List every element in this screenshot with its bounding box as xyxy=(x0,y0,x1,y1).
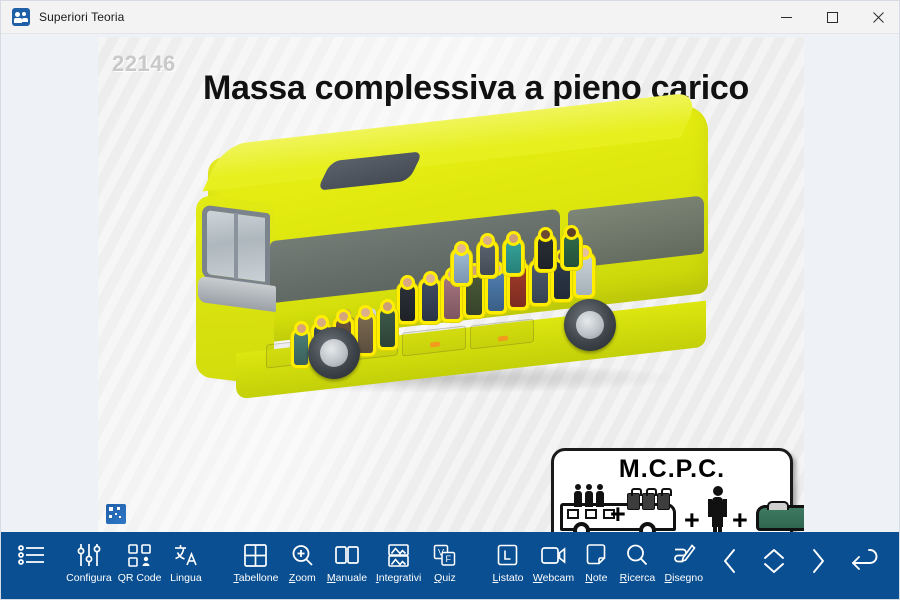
video-camera-icon xyxy=(540,538,567,572)
listato-button[interactable]: Listato xyxy=(487,538,530,596)
slide-canvas[interactable]: 22146 Massa complessiva a pieno carico xyxy=(98,37,804,532)
qr-code-button[interactable]: QR Code xyxy=(115,538,165,596)
manuale-button[interactable]: Manuale xyxy=(323,538,371,596)
note-label: Note xyxy=(585,573,607,584)
integrativi-label: Integrativi xyxy=(376,573,422,584)
window-title: Superiori Teoria xyxy=(39,10,124,24)
chevron-up-down-icon xyxy=(760,546,788,581)
next-button[interactable] xyxy=(796,538,840,596)
lingua-label: Lingua xyxy=(170,573,202,584)
zoom-button[interactable]: Zoom xyxy=(282,538,323,596)
disegno-button[interactable]: Disegno xyxy=(660,538,708,596)
disegno-label: Disegno xyxy=(665,573,704,584)
sliders-icon xyxy=(76,538,102,572)
open-book-icon xyxy=(334,538,360,572)
qr-code-icon xyxy=(127,538,152,572)
application-window: Superiori Teoria 22146 Massa complessiva… xyxy=(0,0,900,600)
configura-label: Configura xyxy=(66,573,112,584)
chevron-left-icon xyxy=(719,546,741,581)
person-icon xyxy=(712,497,723,527)
minimize-button[interactable] xyxy=(763,1,809,33)
maximize-button[interactable] xyxy=(809,1,855,33)
people-icon xyxy=(12,8,30,26)
magnifier-plus-icon xyxy=(290,538,315,572)
translate-icon xyxy=(173,538,199,572)
quiz-label: Quiz xyxy=(434,573,456,584)
letter-l-box-icon xyxy=(495,538,520,572)
qr-logo-icon xyxy=(106,504,126,524)
qr-code-label: QR Code xyxy=(118,573,162,584)
images-stack-icon xyxy=(386,538,411,572)
search-icon xyxy=(625,538,650,572)
quiz-button[interactable]: V F Quiz xyxy=(426,538,464,596)
close-button[interactable] xyxy=(855,1,900,33)
slide-title: Massa complessiva a pieno carico xyxy=(98,69,804,108)
updown-button[interactable] xyxy=(752,538,796,596)
zoom-label: Zoom xyxy=(289,573,316,584)
tabellone-label: TTabelloneabellone xyxy=(233,573,278,584)
mcpc-formula-box: M.C.P.C. + + xyxy=(551,448,793,532)
menu-button[interactable] xyxy=(13,538,51,596)
vf-cards-icon: V F xyxy=(432,538,457,572)
pencil-draw-icon xyxy=(671,538,697,572)
listato-label: Listato xyxy=(493,573,524,584)
content-area: 22146 Massa complessiva a pieno carico xyxy=(1,34,900,534)
webcam-button[interactable]: Webcam xyxy=(529,538,577,596)
return-arrow-icon xyxy=(847,547,881,580)
title-bar: Superiori Teoria xyxy=(1,1,900,34)
grid-icon xyxy=(243,538,268,572)
chevron-right-icon xyxy=(807,546,829,581)
integrativi-button[interactable]: Integrativi xyxy=(371,538,426,596)
back-button[interactable] xyxy=(840,538,889,596)
tabellone-button[interactable]: TTabelloneabellone xyxy=(230,538,282,596)
bottom-toolbar: Configura QR Code xyxy=(1,532,900,599)
configura-button[interactable]: Configura xyxy=(63,538,115,596)
ricerca-label: Ricerca xyxy=(620,573,656,584)
lingua-button[interactable]: Lingua xyxy=(164,538,207,596)
manuale-label: Manuale xyxy=(327,573,367,584)
svg-text:F: F xyxy=(446,554,452,564)
note-button[interactable]: Note xyxy=(578,538,616,596)
webcam-label: Webcam xyxy=(533,573,574,584)
ricerca-button[interactable]: Ricerca xyxy=(615,538,660,596)
window-controls xyxy=(763,1,900,33)
previous-button[interactable] xyxy=(708,538,752,596)
bus-illustration xyxy=(176,125,736,415)
note-page-icon xyxy=(584,538,608,572)
bulleted-list-icon xyxy=(18,538,46,572)
fuel-tank-icon xyxy=(756,505,804,531)
mcpc-heading: M.C.P.C. xyxy=(554,455,790,484)
